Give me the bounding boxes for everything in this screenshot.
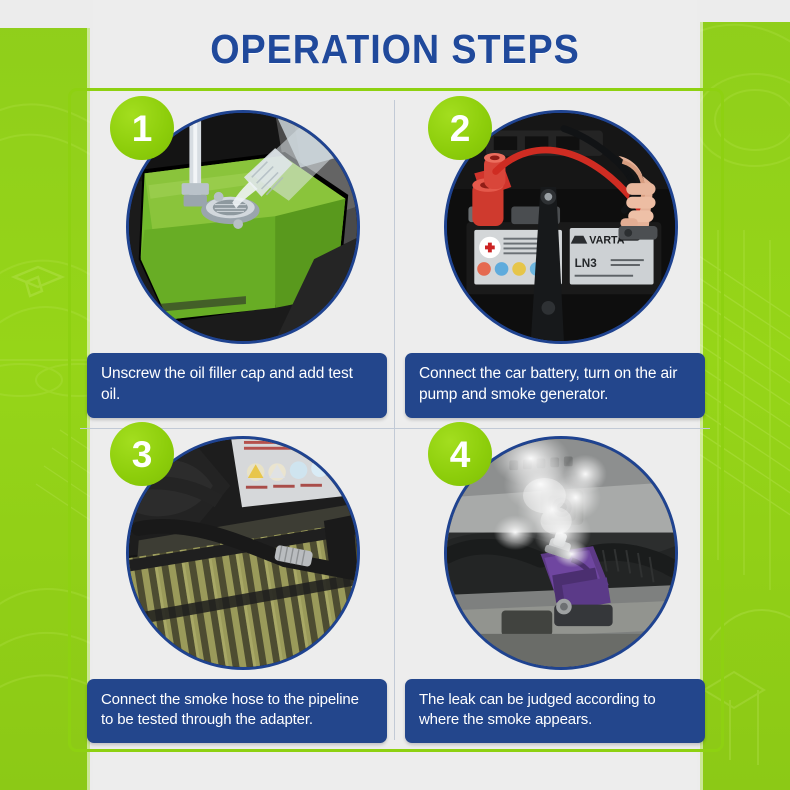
svg-text:LN3: LN3	[575, 257, 598, 270]
step-badge-1: 1	[110, 96, 174, 160]
step-card-3: 3 Connect the smoke hose to the pipeline…	[78, 430, 396, 740]
steps-grid: 1 Unscrew the oil filler cap and add tes…	[0, 0, 790, 790]
step-caption-2: Connect the car battery, turn on the air…	[405, 353, 705, 418]
operation-steps-infographic: OPERATION STEPS	[0, 0, 790, 790]
page-title: OPERATION STEPS	[32, 26, 759, 73]
step-caption-4: The leak can be judged according to wher…	[405, 679, 705, 743]
step-caption-1: Unscrew the oil filler cap and add test …	[87, 353, 387, 418]
step-card-1: 1 Unscrew the oil filler cap and add tes…	[78, 104, 396, 414]
step-card-4: 4 The leak can be judged according to wh…	[396, 430, 714, 740]
step-caption-3: Connect the smoke hose to the pipeline t…	[87, 679, 387, 743]
step-badge-4: 4	[428, 422, 492, 486]
step-card-2: VARTA LN3	[396, 104, 714, 414]
step-badge-3: 3	[110, 422, 174, 486]
step-badge-2: 2	[428, 96, 492, 160]
